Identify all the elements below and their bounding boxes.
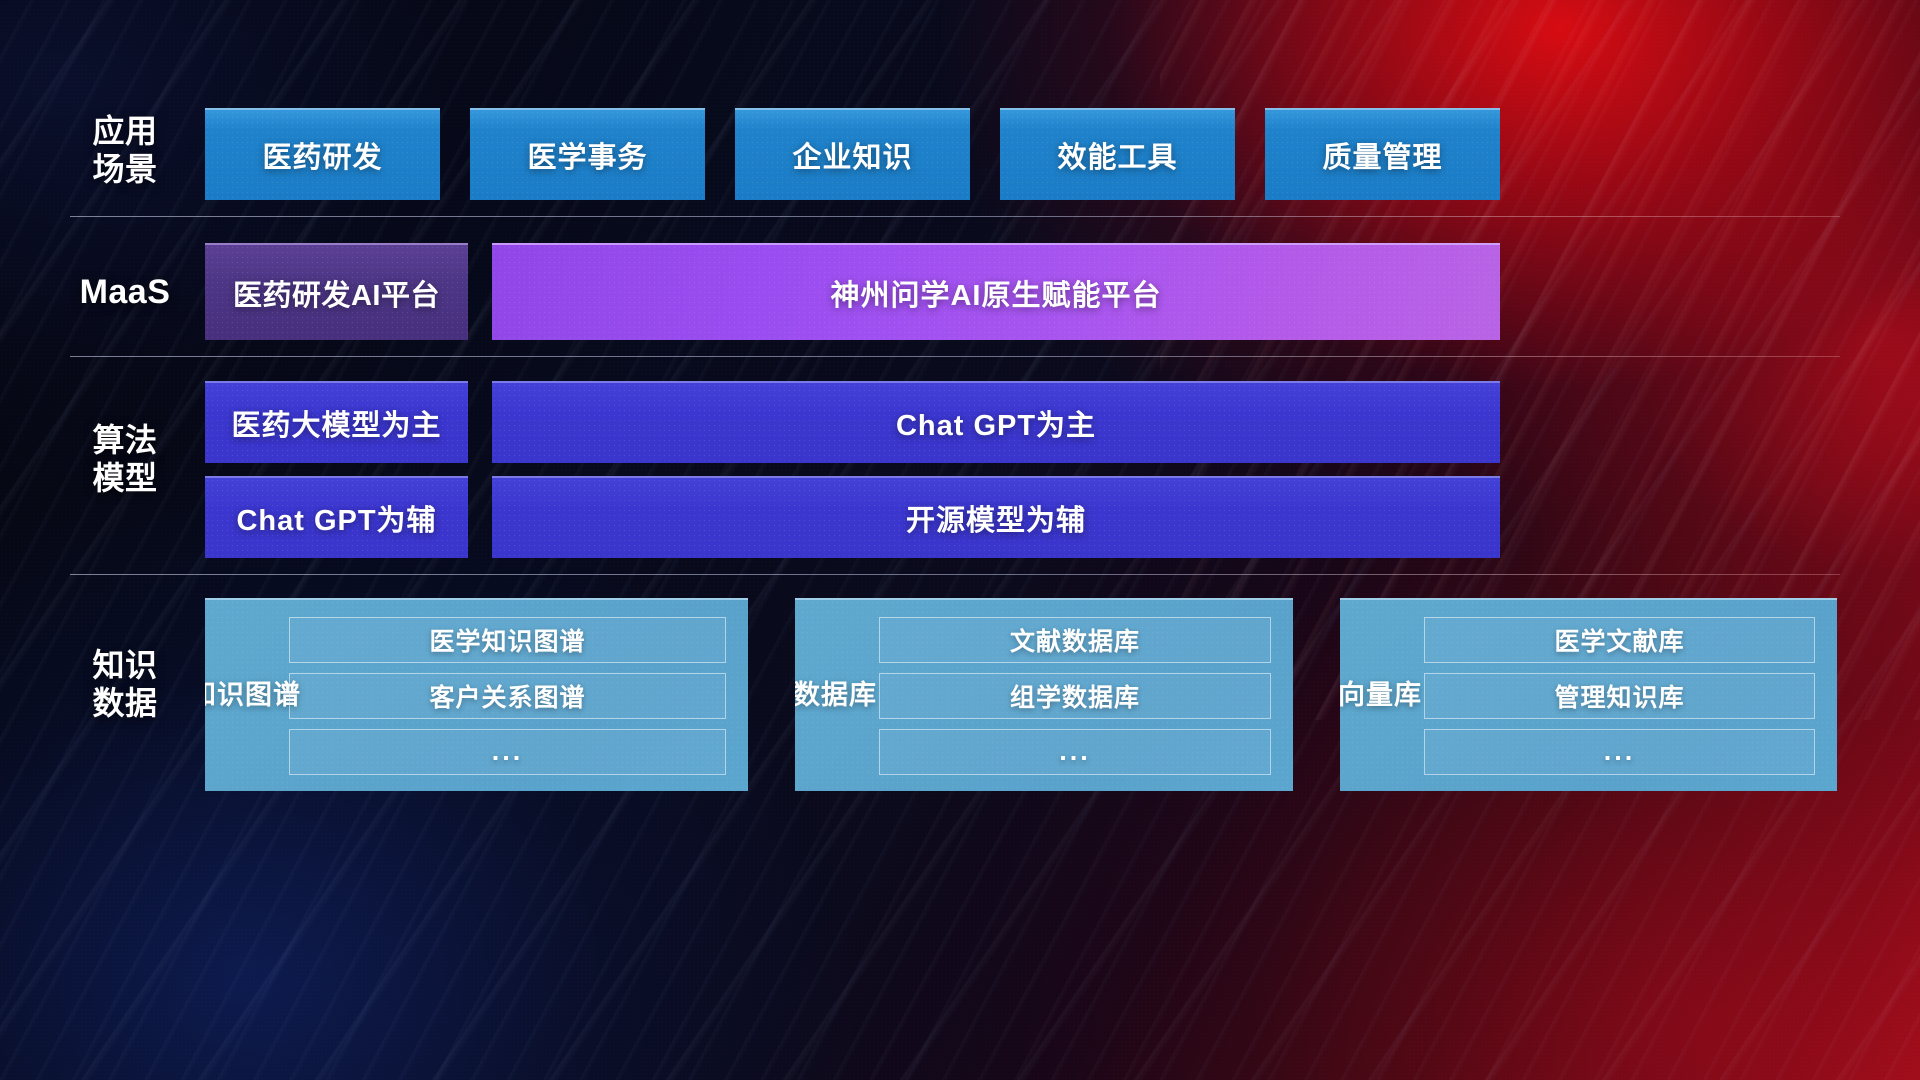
maas-card-shenzhou-platform-label: 神州问学AI原生赋能平台	[830, 272, 1161, 314]
divider-algorithm-knowledge	[70, 574, 1840, 575]
maas-card-drug-ai-platform[interactable]: 医药研发AI平台	[205, 243, 468, 340]
row-label-maas: MaaS	[70, 272, 180, 312]
maas-card-drug-ai-platform-label: 医药研发AI平台	[233, 272, 440, 314]
scenario-card-2[interactable]: 医学事务	[470, 108, 705, 200]
algorithm-card-opensource-secondary[interactable]: 开源模型为辅	[492, 476, 1500, 558]
knowledge-group-vector-items: 医学文献库 管理知识库 ...	[1420, 600, 1837, 791]
row-label-scenario: 应用场景	[70, 113, 180, 189]
algorithm-card-drug-llm-primary[interactable]: 医药大模型为主	[205, 381, 468, 463]
algorithm-card-chatgpt-primary[interactable]: Chat GPT为主	[492, 381, 1500, 463]
algorithm-card-chatgpt-primary-label: Chat GPT为主	[896, 402, 1096, 444]
algorithm-card-chatgpt-secondary-label: Chat GPT为辅	[236, 497, 436, 539]
algorithm-card-chatgpt-secondary[interactable]: Chat GPT为辅	[205, 476, 468, 558]
knowledge-group-graph[interactable]: 知识图谱 医学知识图谱 客户关系图谱 ...	[205, 598, 748, 791]
knowledge-group-database-items: 文献数据库 组学数据库 ...	[875, 600, 1293, 791]
knowledge-item[interactable]: 文献数据库	[879, 617, 1271, 663]
architecture-diagram: 应用场景 医药研发 医学事务 企业知识 效能工具 质量管理 MaaS 医药研发A…	[0, 0, 1920, 1080]
divider-maas-algorithm	[70, 356, 1840, 357]
scenario-card-3-label: 企业知识	[792, 134, 912, 176]
maas-card-shenzhou-platform[interactable]: 神州问学AI原生赋能平台	[492, 243, 1500, 340]
knowledge-item-more[interactable]: ...	[289, 729, 726, 775]
knowledge-group-database[interactable]: 数据库 文献数据库 组学数据库 ...	[795, 598, 1293, 791]
knowledge-group-database-title: 数据库	[795, 600, 875, 791]
knowledge-group-graph-items: 医学知识图谱 客户关系图谱 ...	[285, 600, 748, 791]
knowledge-item-more[interactable]: ...	[879, 729, 1271, 775]
scenario-card-4-label: 效能工具	[1057, 134, 1177, 176]
scenario-card-2-label: 医学事务	[527, 134, 647, 176]
algorithm-card-opensource-secondary-label: 开源模型为辅	[906, 497, 1086, 539]
knowledge-item[interactable]: 客户关系图谱	[289, 673, 726, 719]
row-label-algorithm: 算法模型	[70, 422, 180, 498]
knowledge-group-vector[interactable]: 向量库 医学文献库 管理知识库 ...	[1340, 598, 1837, 791]
slide-canvas: 应用场景 医药研发 医学事务 企业知识 效能工具 质量管理 MaaS 医药研发A…	[0, 0, 1920, 1080]
divider-scenario-maas	[70, 216, 1840, 217]
knowledge-item[interactable]: 管理知识库	[1424, 673, 1815, 719]
knowledge-item[interactable]: 组学数据库	[879, 673, 1271, 719]
scenario-card-1[interactable]: 医药研发	[205, 108, 440, 200]
scenario-card-5-label: 质量管理	[1322, 134, 1442, 176]
scenario-card-1-label: 医药研发	[262, 134, 382, 176]
scenario-card-3[interactable]: 企业知识	[735, 108, 970, 200]
knowledge-group-vector-title: 向量库	[1340, 600, 1420, 791]
knowledge-group-graph-title: 知识图谱	[205, 600, 285, 791]
algorithm-card-drug-llm-primary-label: 医药大模型为主	[231, 402, 441, 444]
row-label-knowledge: 知识数据	[70, 647, 180, 723]
scenario-card-5[interactable]: 质量管理	[1265, 108, 1500, 200]
scenario-card-4[interactable]: 效能工具	[1000, 108, 1235, 200]
knowledge-item-more[interactable]: ...	[1424, 729, 1815, 775]
knowledge-item[interactable]: 医学知识图谱	[289, 617, 726, 663]
knowledge-item[interactable]: 医学文献库	[1424, 617, 1815, 663]
